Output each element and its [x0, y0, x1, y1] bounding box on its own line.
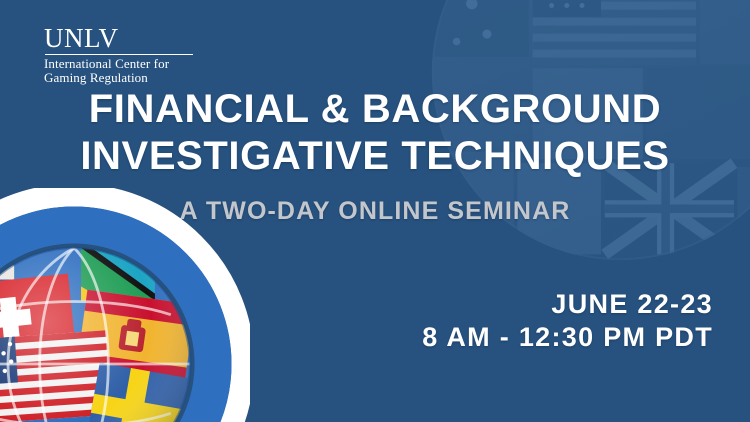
event-date: JUNE 22-23: [422, 288, 713, 320]
unlv-logo: UNLV International Center for Gaming Reg…: [44, 24, 193, 85]
logo-wordmark: UNLV: [44, 24, 193, 52]
logo-subtitle-line-2: Gaming Regulation: [44, 71, 193, 85]
seminar-promo-poster: UNLV International Center for Gaming Reg…: [0, 0, 750, 422]
logo-subtitle-line-1: International Center for: [44, 57, 193, 71]
flag-globe-icon: [0, 188, 250, 422]
event-time: 8 AM - 12:30 PM PDT: [422, 320, 713, 354]
event-schedule: JUNE 22-23 8 AM - 12:30 PM PDT: [422, 288, 713, 354]
title-line-2: INVESTIGATIVE TECHNIQUES: [80, 134, 669, 178]
flag-globe-graphic: [0, 188, 250, 422]
title-line-1: FINANCIAL & BACKGROUND: [89, 87, 661, 131]
logo-divider: [45, 54, 193, 55]
page-title: FINANCIAL & BACKGROUND INVESTIGATIVE TEC…: [0, 86, 750, 180]
